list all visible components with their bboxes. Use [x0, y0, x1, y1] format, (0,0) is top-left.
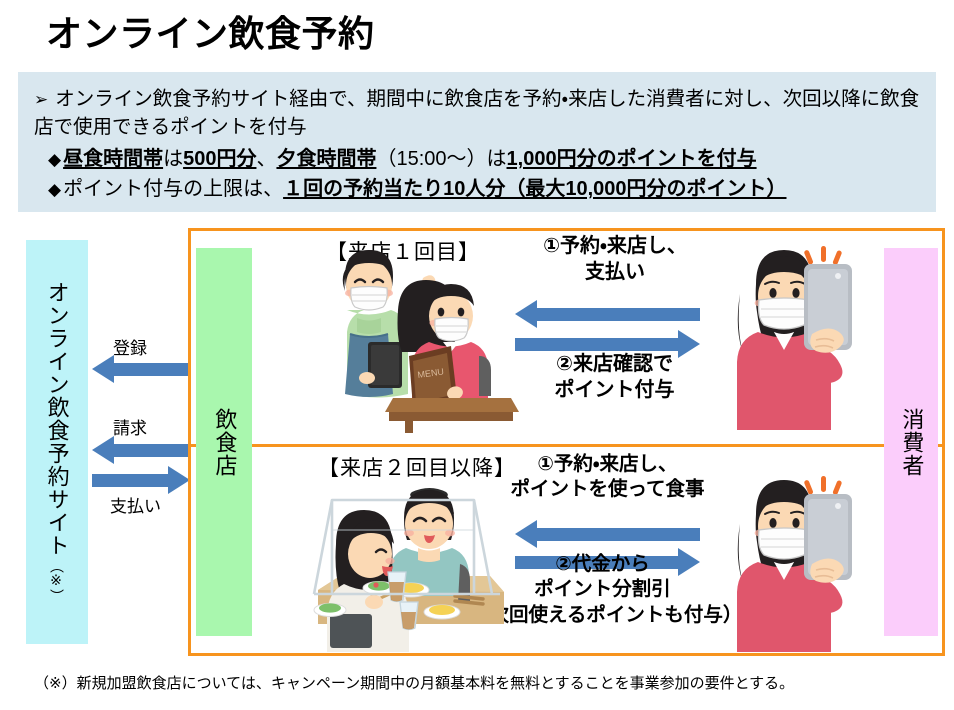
flow-box-divider	[188, 444, 945, 447]
banner-bullet-row-1: ◆昼食時間帯は500円分、夕食時間帯（15:00〜）は1,000円分のポイントを…	[48, 147, 757, 172]
staff-and-customer-illustration: MENU	[305, 238, 520, 433]
flow-label-register: 登録	[113, 334, 147, 359]
arrow-shaft	[112, 444, 190, 457]
arrow-shaft	[112, 363, 190, 376]
diamond-bullet-icon-2: ◆	[48, 180, 61, 199]
arrow-head-left-icon	[92, 436, 114, 464]
second-visit-step1-text: ①予約・来店し、ポイントを使って食事	[485, 452, 730, 502]
dinner-timeslot-label: 夕食時間帯	[276, 148, 376, 170]
column-reservation-site-note: （※）	[47, 559, 67, 603]
page-title: オンライン飲食予約	[46, 14, 375, 54]
diamond-bullet-icon: ◆	[48, 150, 61, 169]
first-visit-step2-text: ②来店確認でポイント付与	[512, 352, 717, 403]
arrow-shaft	[515, 338, 680, 351]
banner-lead-row: ➢オンライン飲食予約サイト経由で、期間中に飲食店を予約・来店した消費者に対し、次…	[34, 86, 924, 141]
line2-comma: 、	[256, 148, 276, 170]
flow-label-payment: 支払い	[110, 492, 161, 517]
arrow-shaft	[535, 528, 700, 541]
arrow-shaft	[535, 308, 700, 321]
notification-spark-icon	[804, 476, 843, 496]
lunch-amount: 500円分	[183, 148, 256, 170]
point-cap-value: １回の予約当たり10人分（最大10,000円分のポイント）	[283, 178, 786, 200]
masked-woman-with-smartphone	[737, 246, 852, 430]
lunch-particle: は	[163, 148, 183, 170]
table	[385, 398, 519, 433]
arrow-head-left-icon	[515, 520, 537, 548]
phone-user-illustration-first	[700, 240, 875, 430]
bullet-arrow-icon: ➢	[34, 90, 48, 109]
lunch-timeslot-label: 昼食時間帯	[63, 148, 163, 170]
column-reservation-site-label: オンライン飲食予約サイト	[41, 281, 72, 557]
arrow-head-left-icon	[92, 355, 114, 383]
arrow-head-right-icon	[168, 466, 190, 494]
diners-with-partition-illustration	[300, 472, 510, 652]
banner-lead-text: オンライン飲食予約サイト経由で、期間中に飲食店を予約・来店した消費者に対し、次回…	[34, 88, 919, 138]
footnote-text: （※）新規加盟飲食店については、キャンペーン期間中の月額基本料を無料とすることを…	[34, 672, 794, 693]
banner-bullet-row-2: ◆ポイント付与の上限は、１回の予約当たり10人分（最大10,000円分のポイント…	[48, 177, 787, 202]
dinner-amount: 1,000円分のポイントを付与	[507, 148, 757, 170]
summary-banner: ➢オンライン飲食予約サイト経由で、期間中に飲食店を予約・来店した消費者に対し、次…	[18, 72, 936, 212]
masked-woman-with-smartphone	[737, 476, 852, 652]
column-reservation-site: オンライン飲食予約サイト （※）	[26, 240, 88, 644]
dinner-time-range: （15:00〜）は	[376, 148, 506, 170]
flow-label-invoice: 請求	[113, 414, 147, 439]
notification-spark-icon	[804, 246, 843, 266]
first-visit-step1-text: ①予約・来店し、支払い	[515, 234, 715, 285]
phone-user-illustration-second	[700, 472, 875, 652]
point-cap-prefix: ポイント付与の上限は、	[63, 178, 283, 200]
arrow-shaft	[92, 474, 170, 487]
